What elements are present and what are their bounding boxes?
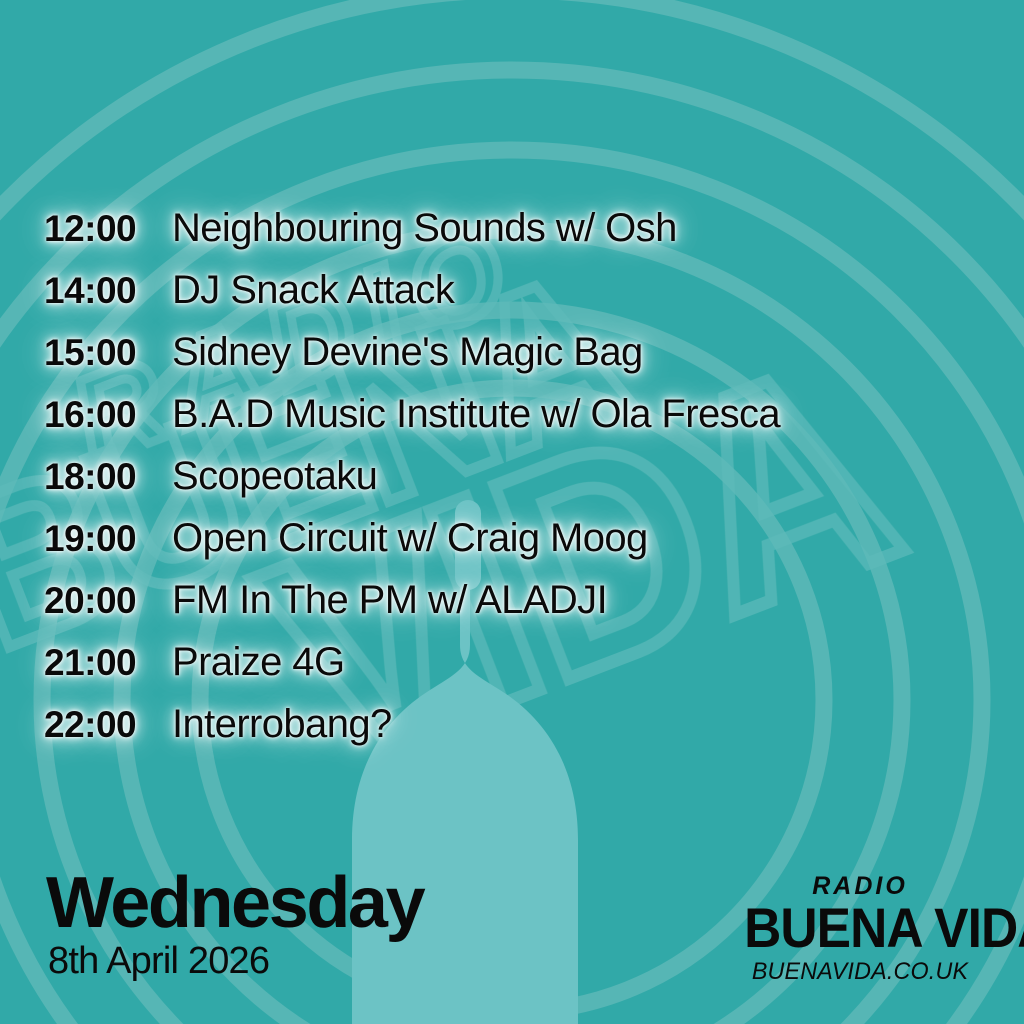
schedule-row: 20:00 FM In The PM w/ ALADJI bbox=[0, 580, 1024, 642]
schedule-row-show: Sidney Devine's Magic Bag bbox=[172, 332, 643, 372]
schedule-row: 12:00 Neighbouring Sounds w/ Osh bbox=[0, 208, 1024, 270]
schedule-row-time: 12:00 bbox=[44, 210, 172, 247]
schedule-row-show: Interrobang? bbox=[172, 704, 392, 744]
station-logo: RADIO BUENA VIDA BUENAVIDA.CO.UK bbox=[734, 874, 986, 984]
schedule-row-time: 22:00 bbox=[44, 706, 172, 743]
schedule-row: 18:00 Scopeotaku bbox=[0, 456, 1024, 518]
schedule-row: 15:00 Sidney Devine's Magic Bag bbox=[0, 332, 1024, 394]
schedule-row-show: Praize 4G bbox=[172, 642, 344, 682]
schedule-row: 21:00 Praize 4G bbox=[0, 642, 1024, 704]
schedule-row-show: DJ Snack Attack bbox=[172, 270, 454, 310]
schedule-list: 12:00 Neighbouring Sounds w/ Osh 14:00 D… bbox=[0, 208, 1024, 766]
schedule-row-show: B.A.D Music Institute w/ Ola Fresca bbox=[172, 394, 780, 434]
day-block: Wednesday 8th April 2026 bbox=[46, 868, 423, 982]
schedule-row-time: 20:00 bbox=[44, 582, 172, 619]
schedule-row: 19:00 Open Circuit w/ Craig Moog bbox=[0, 518, 1024, 580]
schedule-row-time: 18:00 bbox=[44, 458, 172, 495]
schedule-row-time: 19:00 bbox=[44, 520, 172, 557]
schedule-row-time: 14:00 bbox=[44, 272, 172, 309]
day-name: Wednesday bbox=[46, 868, 423, 939]
schedule-row-time: 21:00 bbox=[44, 644, 172, 681]
day-date: 8th April 2026 bbox=[48, 942, 423, 982]
schedule-row-show: Scopeotaku bbox=[172, 456, 377, 496]
schedule-row-show: Open Circuit w/ Craig Moog bbox=[172, 518, 648, 558]
schedule-row-time: 16:00 bbox=[44, 396, 172, 433]
schedule-row-show: FM In The PM w/ ALADJI bbox=[172, 580, 607, 620]
schedule-row: 16:00 B.A.D Music Institute w/ Ola Fresc… bbox=[0, 394, 1024, 456]
schedule-row: 22:00 Interrobang? bbox=[0, 704, 1024, 766]
schedule-row-time: 15:00 bbox=[44, 334, 172, 371]
schedule-row-show: Neighbouring Sounds w/ Osh bbox=[172, 208, 677, 248]
schedule-poster: RADIO BUENA VIDA 12:00 Neighbouring Soun… bbox=[0, 0, 1024, 1024]
logo-url: BUENAVIDA.CO.UK bbox=[738, 960, 982, 984]
logo-wordmark: BUENA VIDA bbox=[744, 904, 976, 952]
schedule-row: 14:00 DJ Snack Attack bbox=[0, 270, 1024, 332]
